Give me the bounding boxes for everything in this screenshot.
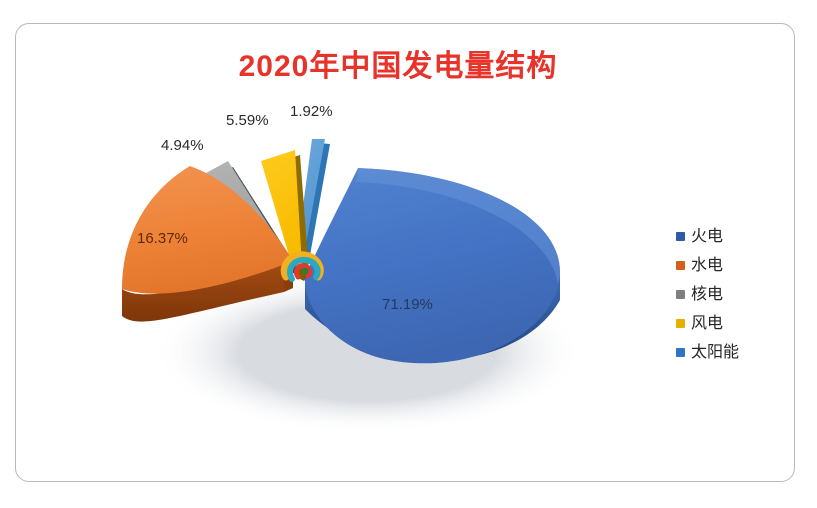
legend-swatch-wind bbox=[676, 319, 685, 328]
legend-label-solar: 太阳能 bbox=[691, 345, 739, 361]
data-label-thermal: 71.19% bbox=[382, 296, 433, 313]
legend-item-hydro[interactable]: 水电 bbox=[676, 251, 784, 280]
legend-swatch-thermal bbox=[676, 232, 685, 241]
data-label-wind: 5.59% bbox=[226, 112, 269, 129]
legend-swatch-hydro bbox=[676, 261, 685, 270]
data-label-nuclear: 4.94% bbox=[161, 137, 204, 154]
pie-slice-thermal[interactable] bbox=[305, 168, 560, 363]
legend-swatch-nuclear bbox=[676, 290, 685, 299]
watermark-swirl-icon bbox=[278, 247, 330, 289]
legend-item-thermal[interactable]: 火电 bbox=[676, 222, 784, 251]
legend-label-thermal: 火电 bbox=[691, 229, 723, 245]
data-label-solar: 1.92% bbox=[290, 103, 333, 120]
data-label-hydro: 16.37% bbox=[137, 230, 188, 247]
legend-item-nuclear[interactable]: 核电 bbox=[676, 280, 784, 309]
legend-label-nuclear: 核电 bbox=[691, 287, 723, 303]
legend-item-wind[interactable]: 风电 bbox=[676, 309, 784, 338]
legend-label-wind: 风电 bbox=[691, 316, 723, 332]
legend-label-hydro: 水电 bbox=[691, 258, 723, 274]
legend-swatch-solar bbox=[676, 348, 685, 357]
legend-item-solar[interactable]: 太阳能 bbox=[676, 338, 784, 367]
chart-legend: 火电 水电 核电 风电 太阳能 bbox=[676, 222, 784, 367]
